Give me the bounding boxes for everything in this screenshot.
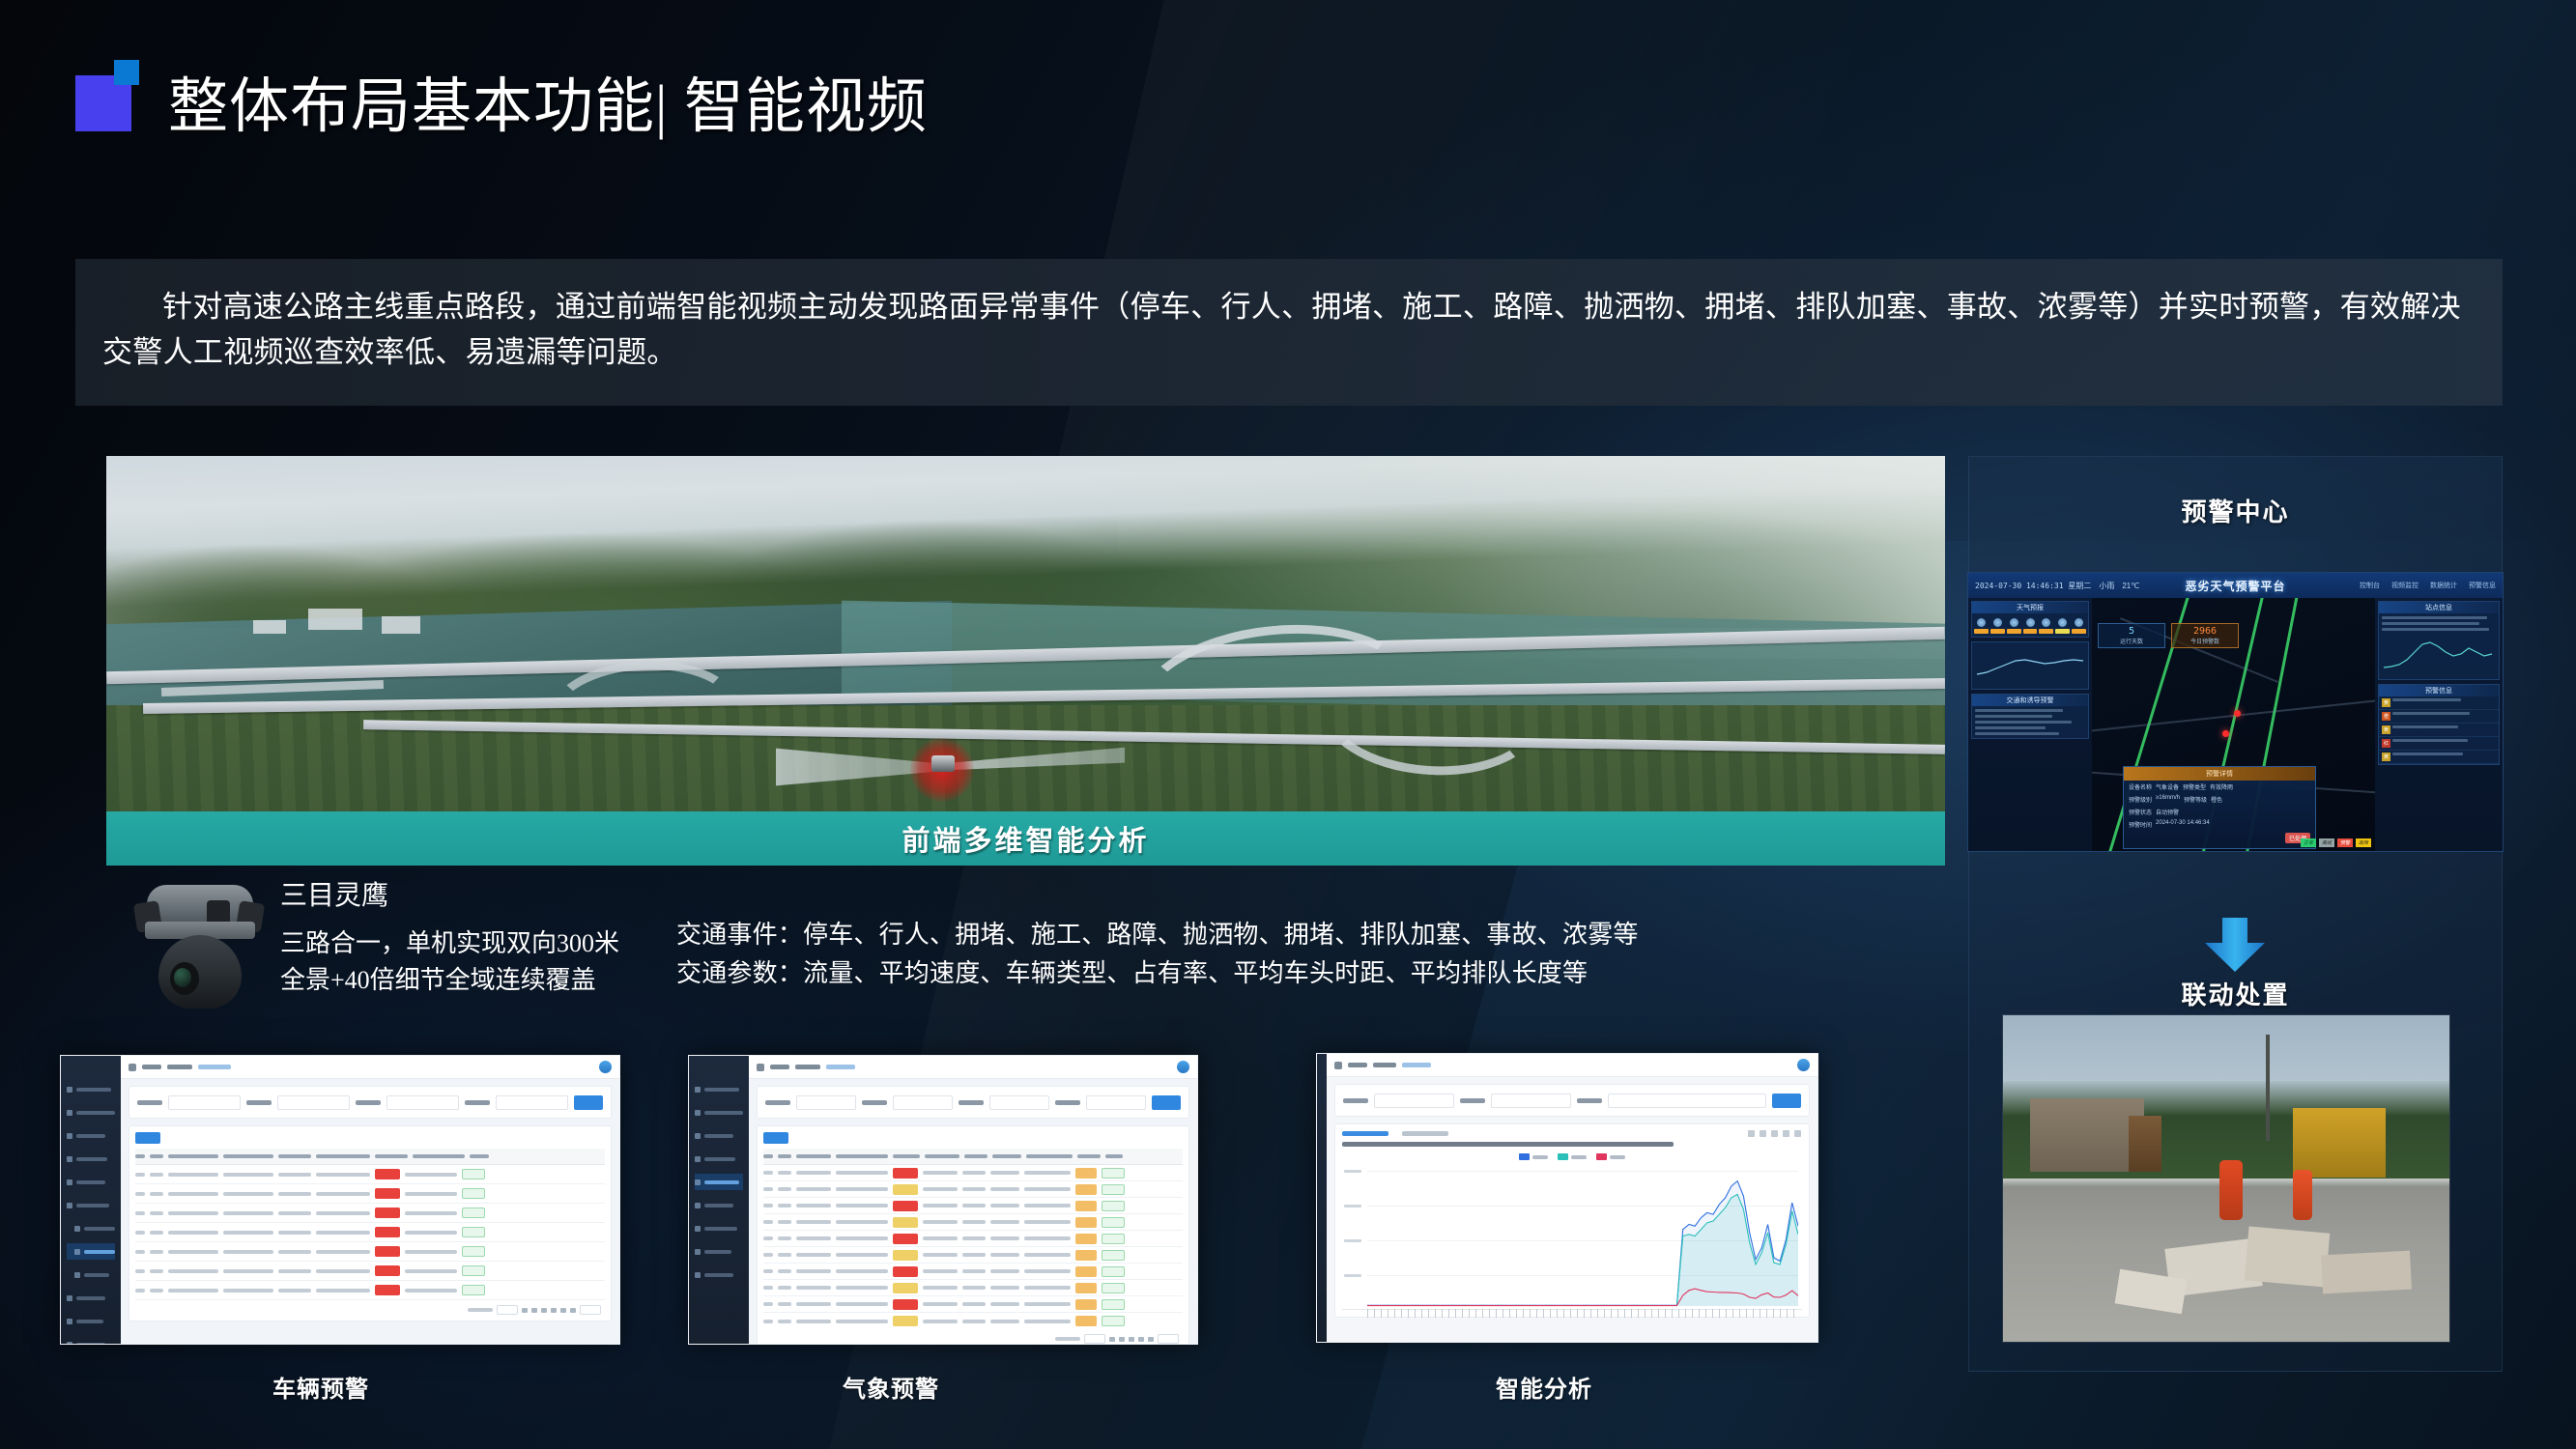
wc-popup-value: ≥16mm/h <box>2156 795 2180 804</box>
wc-warning-item[interactable]: 黄 <box>2379 696 2499 710</box>
sidebar-label <box>76 1088 111 1092</box>
wc-popup-row: 设备名称 气象设备 预警类型 有效降雨 <box>2124 781 2315 793</box>
row-checkbox[interactable] <box>763 1236 773 1240</box>
row-index <box>150 1211 163 1215</box>
row-cell <box>223 1231 273 1235</box>
sidebar-label <box>704 1111 743 1115</box>
column-header <box>778 1154 791 1158</box>
alert-level-bar <box>2039 629 2053 634</box>
table-row[interactable] <box>763 1280 1183 1296</box>
row-cell <box>962 1286 986 1290</box>
wc-warning-item[interactable]: 橙 <box>2379 710 2499 724</box>
row-timestamp <box>1024 1171 1071 1175</box>
row-checkbox[interactable] <box>135 1289 145 1293</box>
tab-traffic-statistics[interactable] <box>1342 1131 1388 1136</box>
weather-icon <box>2026 618 2035 627</box>
table-row[interactable] <box>763 1231 1183 1247</box>
status-badge <box>375 1285 400 1295</box>
filter-select[interactable] <box>1374 1094 1454 1108</box>
page-jump-input[interactable] <box>1158 1334 1179 1344</box>
row-index <box>778 1220 791 1224</box>
sidebar-icon <box>67 1179 72 1185</box>
search-button[interactable] <box>1152 1095 1181 1110</box>
action-badge[interactable] <box>1102 1283 1125 1293</box>
action-badge[interactable] <box>462 1227 485 1237</box>
forecast-day <box>1990 616 2005 634</box>
map-alert-marker[interactable] <box>2234 710 2241 717</box>
table-row[interactable] <box>135 1184 605 1204</box>
pie-chart-icon[interactable] <box>1783 1130 1789 1137</box>
sidebar-label <box>704 1134 733 1138</box>
sidebar-icon <box>695 1156 701 1162</box>
legend-label <box>1532 1155 1548 1159</box>
filter-select[interactable] <box>1086 1095 1146 1110</box>
sidebar-item[interactable] <box>67 1313 115 1329</box>
weather-icon <box>1977 618 1986 627</box>
sidebar-icon <box>67 1087 72 1093</box>
filter-select[interactable] <box>796 1095 856 1110</box>
filter-label <box>137 1100 162 1105</box>
sidebar-icon <box>67 1319 72 1324</box>
action-badge[interactable] <box>1102 1234 1125 1244</box>
filter-date-input[interactable] <box>496 1095 568 1110</box>
column-header <box>223 1154 273 1158</box>
link-badge[interactable] <box>1075 1234 1097 1244</box>
status-badge <box>375 1169 400 1179</box>
link-badge[interactable] <box>1075 1250 1097 1261</box>
pagination[interactable] <box>135 1300 605 1317</box>
row-cell <box>990 1253 1019 1257</box>
table-row[interactable] <box>763 1264 1183 1280</box>
chart-toolbar[interactable] <box>1748 1130 1801 1137</box>
download-icon[interactable] <box>1794 1130 1801 1137</box>
weather-icon <box>1993 618 2002 627</box>
row-timestamp <box>1024 1320 1071 1323</box>
sidebar-icon <box>67 1203 72 1208</box>
sidebar-icon <box>695 1110 701 1116</box>
row-cell <box>223 1269 273 1273</box>
incident-debris <box>2245 1226 2331 1287</box>
filter-label <box>1055 1100 1080 1105</box>
wc-station-info-panel: 站点信息 <box>2378 601 2500 680</box>
alert-level-bar <box>1974 629 1989 634</box>
incident-scene-photo <box>2002 1014 2450 1343</box>
table-row[interactable] <box>763 1214 1183 1231</box>
sidebar-icon <box>695 1203 701 1208</box>
dashboard-breadcrumb-bar <box>1327 1054 1818 1077</box>
refresh-icon[interactable] <box>1760 1130 1766 1137</box>
row-checkbox[interactable] <box>135 1269 145 1273</box>
wc-nav-item-3[interactable]: 预警信息 <box>2469 581 2496 590</box>
sidebar-icon <box>74 1226 80 1232</box>
dashboard-vehicle-warning[interactable] <box>60 1055 620 1345</box>
wc-warning-tag: 橙 <box>2382 712 2390 721</box>
description-text: 针对高速公路主线重点路段，通过前端智能视频主动发现路面异常事件（停车、行人、拥堵… <box>75 259 2503 375</box>
select-all-checkbox[interactable] <box>763 1154 773 1158</box>
filter-label <box>1460 1098 1485 1103</box>
row-index <box>778 1253 791 1257</box>
filter-select[interactable] <box>277 1095 350 1110</box>
sidebar-item[interactable] <box>695 1081 743 1097</box>
row-timestamp <box>405 1250 457 1254</box>
page-jump-input[interactable] <box>580 1305 601 1315</box>
sidebar-icon <box>67 1295 72 1301</box>
wc-nav-item-0[interactable]: 控制台 <box>2360 581 2380 590</box>
menu-toggle-icon[interactable] <box>757 1064 764 1071</box>
wc-stat-value: 5 <box>2129 626 2134 637</box>
filter-bar[interactable] <box>129 1086 612 1119</box>
table-row[interactable] <box>763 1198 1183 1214</box>
dashboard-caption-vehicle: 车辆预警 <box>272 1370 369 1404</box>
wc-alert-popup[interactable]: 预警详情 设备名称 气象设备 预警类型 有效降雨 预警级别 ≥16mm/h 预警… <box>2123 766 2316 849</box>
page-number[interactable] <box>560 1308 566 1313</box>
search-button[interactable] <box>1772 1094 1801 1108</box>
row-cell <box>223 1250 273 1254</box>
sidebar-item[interactable] <box>695 1104 743 1121</box>
row-checkbox[interactable] <box>763 1269 773 1273</box>
page-number[interactable] <box>541 1308 547 1313</box>
column-header <box>964 1154 987 1158</box>
breadcrumb-item[interactable] <box>770 1065 789 1069</box>
row-cell <box>836 1171 888 1175</box>
y-tick-label <box>1344 1170 1361 1173</box>
filter-select[interactable] <box>168 1095 241 1110</box>
select-all-checkbox[interactable] <box>135 1154 145 1158</box>
pagination-total <box>468 1308 493 1312</box>
legend-item-2[interactable] <box>1596 1153 1625 1160</box>
row-cell <box>923 1269 958 1273</box>
wc-data-row <box>2382 628 2489 631</box>
sidebar-item[interactable] <box>67 1151 115 1167</box>
map-alert-marker[interactable] <box>2222 730 2229 737</box>
row-timestamp <box>1024 1302 1071 1306</box>
wc-forecast-panel: 天气预报 <box>1971 601 2089 638</box>
row-checkbox[interactable] <box>763 1187 773 1191</box>
table-row[interactable] <box>763 1313 1183 1329</box>
wc-popup-value: 气象设备 <box>2156 782 2179 791</box>
sidebar-label <box>76 1134 105 1138</box>
avatar[interactable] <box>1177 1061 1189 1073</box>
page-prev-button[interactable] <box>522 1308 528 1313</box>
sidebar-icon <box>695 1249 701 1255</box>
avatar[interactable] <box>599 1061 612 1073</box>
column-header <box>168 1154 218 1158</box>
row-cell <box>836 1204 888 1207</box>
row-checkbox[interactable] <box>763 1220 773 1224</box>
table-row[interactable] <box>763 1247 1183 1264</box>
row-checkbox[interactable] <box>763 1302 773 1306</box>
row-index <box>150 1250 163 1254</box>
menu-toggle-icon[interactable] <box>1334 1062 1342 1069</box>
action-badge[interactable] <box>462 1188 485 1199</box>
page-number[interactable] <box>1138 1337 1144 1342</box>
row-cell <box>923 1302 958 1306</box>
column-header <box>925 1154 959 1158</box>
row-index <box>778 1171 791 1175</box>
table-row[interactable] <box>763 1165 1183 1181</box>
wc-nav-item-1[interactable]: 视频监控 <box>2391 581 2419 590</box>
forecast-day <box>2072 616 2086 634</box>
traffic-params-line: 交通参数：流量、平均速度、车辆类型、占有率、平均车头时距、平均排队长度等 <box>676 954 1639 993</box>
link-badge[interactable] <box>1075 1283 1097 1293</box>
logo-mark-icon <box>75 60 153 131</box>
sidebar-item[interactable] <box>67 1290 115 1306</box>
row-checkbox[interactable] <box>135 1192 145 1196</box>
camera-dome-glass <box>174 968 191 987</box>
link-badge[interactable] <box>1075 1299 1097 1310</box>
action-badge[interactable] <box>462 1285 485 1295</box>
sidebar-item[interactable] <box>695 1243 743 1260</box>
sidebar-subitem-active[interactable] <box>67 1243 115 1260</box>
action-badge[interactable] <box>462 1207 485 1218</box>
filter-select[interactable] <box>893 1095 953 1110</box>
filter-label <box>862 1100 887 1105</box>
wc-data-row <box>1975 726 2046 729</box>
dashboard-sidebar[interactable] <box>1317 1054 1327 1342</box>
ptz-camera-icon <box>135 879 265 1019</box>
sidebar-label <box>76 1111 115 1115</box>
sidebar-label <box>84 1250 115 1254</box>
filter-select[interactable] <box>386 1095 459 1110</box>
wc-popup-key: 预警类型 <box>2183 782 2206 791</box>
dashboard-weather-warning[interactable] <box>688 1055 1198 1345</box>
avatar[interactable] <box>1797 1059 1810 1071</box>
wc-warning-item[interactable]: 黄 <box>2379 724 2499 737</box>
row-timestamp <box>1024 1220 1071 1224</box>
action-badge[interactable] <box>1102 1217 1125 1228</box>
sidebar-icon <box>67 1110 72 1116</box>
dashboard-sidebar[interactable] <box>61 1056 121 1344</box>
chart-tabs[interactable] <box>1342 1131 1802 1142</box>
page-number[interactable] <box>1129 1337 1134 1342</box>
table-row[interactable] <box>763 1181 1183 1198</box>
sidebar-item[interactable] <box>695 1151 743 1167</box>
breadcrumb-current <box>1402 1063 1431 1067</box>
table-row[interactable] <box>135 1223 605 1242</box>
wc-warning-item[interactable]: 红 <box>2379 737 2499 751</box>
row-cell <box>990 1171 1019 1175</box>
sidebar-item[interactable] <box>695 1127 743 1144</box>
sidebar-icon <box>74 1272 80 1278</box>
row-cell <box>278 1211 311 1215</box>
sidebar-subitem[interactable] <box>67 1220 115 1236</box>
search-button[interactable] <box>574 1095 603 1110</box>
wc-warning-tag: 黄 <box>2382 725 2390 734</box>
weather-icon <box>2042 618 2050 627</box>
wc-warning-item[interactable]: 黄 <box>2379 751 2499 764</box>
link-badge[interactable] <box>1075 1201 1097 1211</box>
sidebar-item[interactable] <box>695 1197 743 1213</box>
sidebar-label <box>704 1227 737 1231</box>
export-button[interactable] <box>763 1132 788 1144</box>
sidebar-subitem[interactable] <box>67 1266 115 1283</box>
action-badge[interactable] <box>1102 1250 1125 1261</box>
page-next-button[interactable] <box>570 1308 576 1313</box>
row-cell <box>168 1269 218 1273</box>
filter-select[interactable] <box>989 1095 1049 1110</box>
action-badge[interactable] <box>1102 1299 1125 1310</box>
wc-traffic-warning-panel: 交通和诱导预警 <box>1971 694 2089 739</box>
traffic-events-line: 交通事件：停车、行人、拥堵、施工、路障、抛洒物、拥堵、排队加塞、事故、浓雾等 <box>676 916 1639 954</box>
wc-data-row <box>1975 732 2059 735</box>
page-number[interactable] <box>531 1308 537 1313</box>
bar-chart-icon[interactable] <box>1771 1130 1778 1137</box>
row-index <box>778 1302 791 1306</box>
breadcrumb-item[interactable] <box>795 1065 820 1069</box>
sidebar-item[interactable] <box>67 1104 115 1121</box>
breadcrumb-item[interactable] <box>167 1065 192 1069</box>
row-checkbox[interactable] <box>135 1173 145 1177</box>
table-row[interactable] <box>135 1242 605 1262</box>
row-cell <box>168 1250 218 1254</box>
row-cell <box>836 1187 888 1191</box>
filter-label <box>356 1100 381 1105</box>
sidebar-item-warning[interactable] <box>67 1197 115 1213</box>
y-tick-label <box>1344 1239 1361 1242</box>
detected-vehicle-icon <box>931 755 955 772</box>
action-badge[interactable] <box>1102 1168 1125 1179</box>
row-cell <box>836 1286 888 1290</box>
row-cell <box>223 1173 273 1177</box>
breadcrumb-item[interactable] <box>1348 1063 1367 1067</box>
action-badge[interactable] <box>1102 1184 1125 1195</box>
dashboard-sidebar[interactable] <box>689 1056 749 1344</box>
row-checkbox[interactable] <box>135 1250 145 1254</box>
action-badge[interactable] <box>1102 1266 1125 1277</box>
breadcrumb-item[interactable] <box>142 1065 161 1069</box>
row-checkbox[interactable] <box>135 1231 145 1235</box>
row-checkbox[interactable] <box>135 1211 145 1215</box>
wc-traffic-warning-title: 交通和诱导预警 <box>1972 695 2088 706</box>
chart-legend[interactable] <box>1342 1153 1802 1160</box>
row-cell <box>836 1320 888 1323</box>
wc-popup-key: 设备名称 <box>2129 782 2152 791</box>
page-number[interactable] <box>551 1308 557 1313</box>
page-size-select[interactable] <box>1084 1334 1105 1344</box>
legend-label <box>1571 1155 1587 1159</box>
page-prev-button[interactable] <box>1109 1337 1115 1342</box>
table-header-row <box>135 1149 605 1165</box>
row-cell <box>168 1192 218 1196</box>
status-badge <box>893 1217 918 1228</box>
alert-level-bar <box>2023 629 2038 634</box>
page-number[interactable] <box>1119 1337 1125 1342</box>
row-checkbox[interactable] <box>763 1320 773 1323</box>
action-badge[interactable] <box>1102 1201 1125 1211</box>
filter-date-range[interactable] <box>1608 1094 1766 1108</box>
legend-item-0[interactable] <box>1519 1153 1548 1160</box>
row-timestamp <box>405 1173 457 1177</box>
row-cell <box>923 1220 958 1224</box>
row-cell <box>836 1236 888 1240</box>
row-checkbox[interactable] <box>763 1286 773 1290</box>
row-cell <box>836 1220 888 1224</box>
sidebar-item[interactable] <box>67 1081 115 1097</box>
row-cell <box>316 1289 370 1293</box>
row-cell <box>990 1269 1019 1273</box>
warning-center-dashboard[interactable]: 2024-07-30 14:46:31 星期二 小雨 21℃ 恶劣天气预警平台 … <box>1967 572 2504 852</box>
save-image-icon[interactable] <box>1748 1130 1755 1137</box>
link-badge[interactable] <box>1075 1184 1097 1195</box>
wc-warning-text <box>2392 712 2470 715</box>
menu-toggle-icon[interactable] <box>129 1064 136 1071</box>
wc-nav-item-2[interactable]: 数据统计 <box>2430 581 2457 590</box>
action-badge[interactable] <box>462 1265 485 1276</box>
sidebar-icon <box>695 1179 701 1185</box>
link-badge[interactable] <box>1075 1217 1097 1228</box>
action-badge[interactable] <box>1102 1316 1125 1326</box>
status-badge <box>375 1265 400 1276</box>
table-row[interactable] <box>135 1262 605 1281</box>
row-timestamp <box>405 1192 457 1196</box>
row-cell <box>278 1192 311 1196</box>
row-cell <box>923 1236 958 1240</box>
row-timestamp <box>1024 1253 1071 1257</box>
column-header <box>836 1154 888 1158</box>
row-cell <box>836 1269 888 1273</box>
y-tick-label <box>1344 1274 1361 1277</box>
sidebar-item-settings[interactable] <box>67 1336 115 1345</box>
page-next-button[interactable] <box>1148 1337 1154 1342</box>
sidebar-item[interactable] <box>67 1174 115 1190</box>
table-row[interactable] <box>135 1204 605 1223</box>
sidebar-item-settings[interactable] <box>695 1266 743 1283</box>
wc-warning-list-title: 预警信息 <box>2379 685 2499 696</box>
table-row[interactable] <box>135 1281 605 1300</box>
filter-bar[interactable] <box>1334 1084 1810 1117</box>
wc-forecast-days <box>1972 613 2088 637</box>
table-row[interactable] <box>763 1296 1183 1313</box>
sidebar-item-active[interactable] <box>695 1174 743 1190</box>
legend-item-1[interactable] <box>1558 1153 1587 1160</box>
column-header <box>375 1154 408 1158</box>
device-text-block: 三目灵鹰 三路合一，单机实现双向300米 全景+40倍细节全域连续覆盖 <box>280 874 619 998</box>
row-checkbox[interactable] <box>763 1171 773 1175</box>
sidebar-item[interactable] <box>67 1127 115 1144</box>
sidebar-label <box>704 1088 739 1092</box>
filter-select[interactable] <box>1491 1094 1571 1108</box>
filter-bar[interactable] <box>757 1086 1189 1119</box>
dashboard-intelligent-analysis[interactable] <box>1316 1053 1818 1343</box>
tab-device-statistics[interactable] <box>1402 1131 1448 1136</box>
action-badge[interactable] <box>462 1169 485 1179</box>
breadcrumb-item[interactable] <box>1373 1063 1396 1067</box>
y-tick-label <box>1344 1205 1361 1207</box>
page-size-select[interactable] <box>497 1305 518 1315</box>
link-badge[interactable] <box>1075 1316 1097 1326</box>
status-badge <box>893 1201 918 1211</box>
wc-warning-text <box>2392 739 2468 742</box>
link-badge[interactable] <box>1075 1266 1097 1277</box>
pagination[interactable] <box>763 1329 1183 1345</box>
wc-data-row <box>1975 721 2072 724</box>
station-trend-svg <box>2382 635 2498 671</box>
wc-popup-value: 橙色 <box>2211 795 2222 804</box>
row-checkbox[interactable] <box>763 1253 773 1257</box>
table-row[interactable] <box>135 1165 605 1184</box>
flow-arrow-down-icon <box>2203 918 2267 974</box>
temp-trend-svg <box>1975 645 2089 686</box>
link-badge[interactable] <box>1075 1168 1097 1179</box>
export-button[interactable] <box>135 1132 160 1144</box>
legend-swatch <box>1596 1153 1607 1160</box>
action-badge[interactable] <box>462 1246 485 1257</box>
row-cell <box>316 1211 370 1215</box>
wc-nav[interactable]: 控制台 视频监控 数据统计 预警信息 <box>2360 581 2496 590</box>
row-checkbox[interactable] <box>763 1204 773 1207</box>
sidebar-item[interactable] <box>695 1220 743 1236</box>
row-timestamp <box>1024 1286 1071 1290</box>
